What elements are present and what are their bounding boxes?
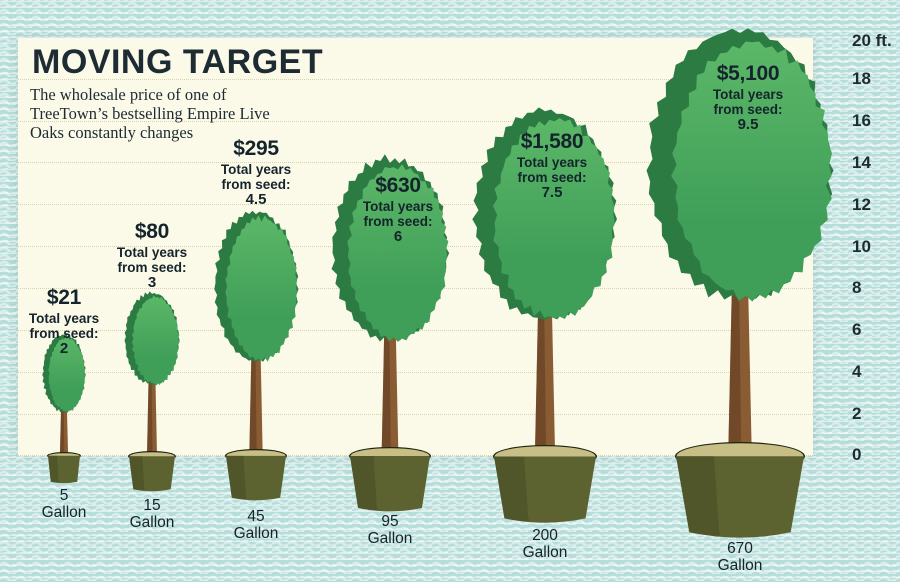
axis-tick-12: 12 bbox=[852, 195, 871, 215]
tree-callout-5: $21Total yearsfrom seed:2 bbox=[0, 286, 144, 358]
pot-size-label-670: 670Gallon bbox=[680, 540, 800, 574]
pot-size-value-95: 95 bbox=[330, 513, 450, 530]
axis-tick-8: 8 bbox=[852, 278, 861, 298]
pot-size-label-95: 95Gallon bbox=[330, 513, 450, 547]
pot-size-value-670: 670 bbox=[680, 540, 800, 557]
tree-years-value-5: 2 bbox=[0, 341, 144, 358]
tree-pot-5 bbox=[47, 452, 81, 489]
tree-callout-670: $5,100Total yearsfrom seed:9.5 bbox=[668, 62, 828, 134]
tree-price-15: $80 bbox=[72, 220, 232, 244]
tree-years-label-5: Total yearsfrom seed: bbox=[0, 311, 144, 341]
tree-callout-95: $630Total yearsfrom seed:6 bbox=[318, 174, 478, 246]
axis-tick-20: 20 ft. bbox=[852, 31, 892, 51]
tree-years-value-200: 7.5 bbox=[472, 185, 632, 202]
tree-pot-45 bbox=[225, 449, 287, 509]
pot-size-unit-200: Gallon bbox=[485, 544, 605, 561]
page-subtitle: The wholesale price of one of TreeTown’s… bbox=[30, 85, 300, 142]
tree-years-label-15: Total yearsfrom seed: bbox=[72, 245, 232, 275]
axis-tick-16: 16 bbox=[852, 111, 871, 131]
pot-size-unit-45: Gallon bbox=[196, 525, 316, 542]
tree-years-label-670: Total yearsfrom seed: bbox=[668, 87, 828, 117]
axis-tick-14: 14 bbox=[852, 153, 871, 173]
tree-callout-45: $295Total yearsfrom seed:4.5 bbox=[176, 137, 336, 209]
tree-price-200: $1,580 bbox=[472, 130, 632, 154]
pot-size-unit-670: Gallon bbox=[680, 557, 800, 574]
tree-years-label-45: Total yearsfrom seed: bbox=[176, 162, 336, 192]
pot-size-value-45: 45 bbox=[196, 508, 316, 525]
tree-years-value-670: 9.5 bbox=[668, 117, 828, 134]
tree-pot-200 bbox=[493, 445, 597, 534]
pot-size-value-15: 15 bbox=[92, 497, 212, 514]
axis-tick-6: 6 bbox=[852, 320, 861, 340]
tree-pot-670 bbox=[675, 442, 805, 551]
axis-tick-0: 0 bbox=[852, 445, 861, 465]
tree-years-label-95: Total yearsfrom seed: bbox=[318, 199, 478, 229]
axis-tick-4: 4 bbox=[852, 362, 861, 382]
tree-price-95: $630 bbox=[318, 174, 478, 198]
axis-tick-10: 10 bbox=[852, 237, 871, 257]
tree-callout-200: $1,580Total yearsfrom seed:7.5 bbox=[472, 130, 632, 202]
pot-size-label-45: 45Gallon bbox=[196, 508, 316, 542]
tree-years-value-45: 4.5 bbox=[176, 192, 336, 209]
pot-size-value-200: 200 bbox=[485, 527, 605, 544]
pot-size-label-15: 15Gallon bbox=[92, 497, 212, 531]
axis-tick-2: 2 bbox=[852, 404, 861, 424]
page-title: MOVING TARGET bbox=[32, 43, 323, 82]
axis-tick-18: 18 bbox=[852, 69, 871, 89]
tree-years-value-15: 3 bbox=[72, 275, 232, 292]
pot-size-unit-95: Gallon bbox=[330, 530, 450, 547]
tree-years-value-95: 6 bbox=[318, 229, 478, 246]
tree-pot-15 bbox=[128, 451, 176, 499]
tree-pot-95 bbox=[349, 447, 431, 521]
pot-size-label-200: 200Gallon bbox=[485, 527, 605, 561]
pot-size-unit-15: Gallon bbox=[92, 514, 212, 531]
tree-price-670: $5,100 bbox=[668, 62, 828, 86]
tree-years-label-200: Total yearsfrom seed: bbox=[472, 155, 632, 185]
tree-callout-15: $80Total yearsfrom seed:3 bbox=[72, 220, 232, 292]
